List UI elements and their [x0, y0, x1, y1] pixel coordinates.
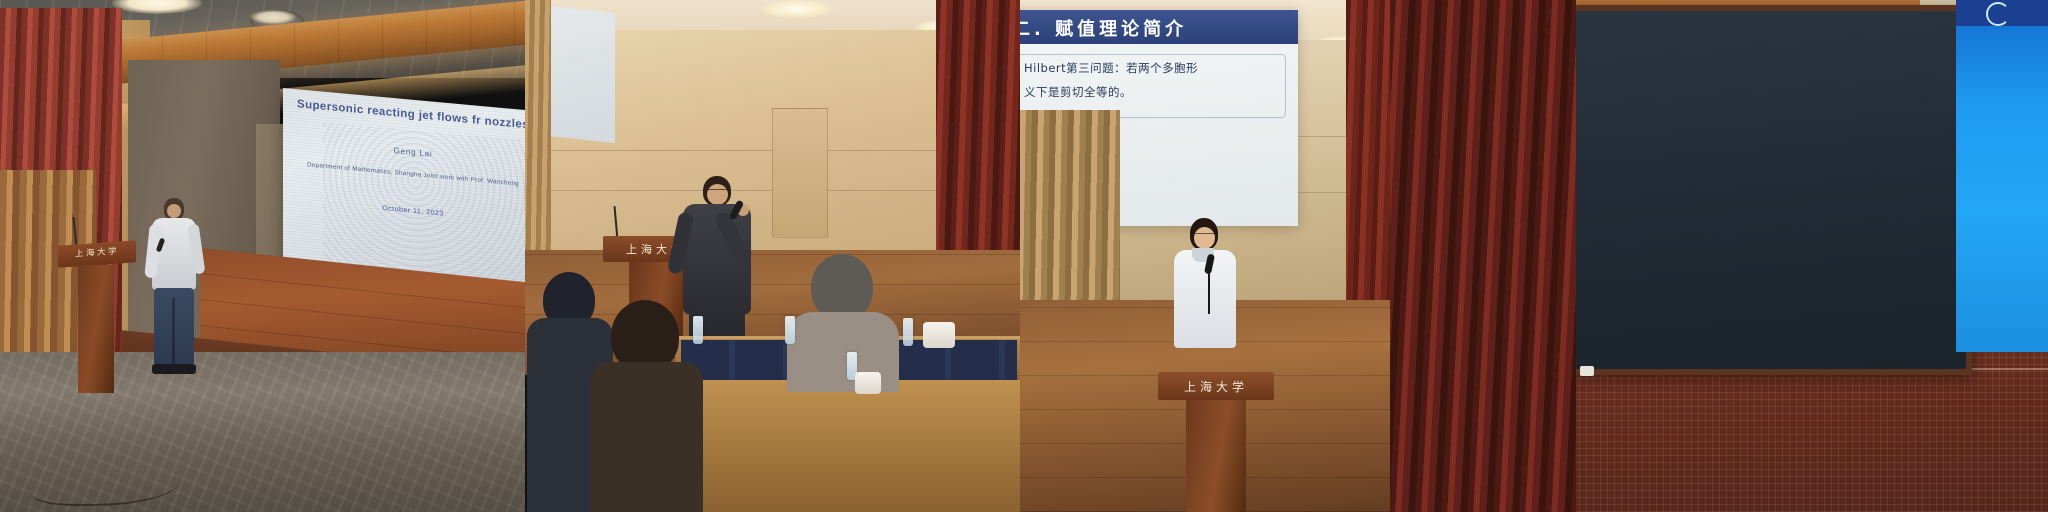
- speaker-person: [1168, 218, 1244, 388]
- tea-cup: [923, 322, 955, 348]
- ceiling-light-icon: [250, 10, 296, 24]
- blue-display-screen: [1956, 0, 2048, 352]
- photo-panel-3: 二. 赋值理论简介 Hilbert第三问题：若两个多胞形 义下是剪切全等的。 上…: [1020, 0, 1390, 512]
- audience-table-front: [649, 380, 1020, 512]
- tea-cup: [855, 372, 881, 394]
- lectern: 上海大学: [58, 243, 136, 393]
- slide-header-text: 二. 赋值理论简介: [1020, 15, 1187, 41]
- speaker-person: [146, 198, 202, 378]
- water-bottle: [693, 316, 703, 344]
- audience-body: [591, 362, 703, 512]
- red-curtain: [1390, 0, 1576, 512]
- lectern: 上海大学: [1158, 372, 1274, 512]
- audience-head: [811, 254, 873, 320]
- microphone-stand: [1208, 270, 1210, 314]
- slide-line-1: Hilbert第三问题：若两个多胞形: [1024, 60, 1198, 76]
- photo-panel-2: 上海大学: [525, 0, 1020, 512]
- photo-panel-4: [1390, 0, 2048, 512]
- lectern-sign: 上海大学: [1164, 378, 1268, 395]
- wall-switch[interactable]: [1580, 366, 1594, 376]
- dark-projection-screen: [1570, 5, 1972, 375]
- photo-panel-1: Supersonic reacting jet flows fr nozzles…: [0, 0, 525, 512]
- slide-line-2: 义下是剪切全等的。: [1024, 84, 1132, 100]
- water-bottle: [903, 318, 913, 346]
- photo-strip: Supersonic reacting jet flows fr nozzles…: [0, 0, 2048, 512]
- circular-logo-icon: [1986, 2, 2010, 26]
- water-bottle: [785, 316, 795, 344]
- ceiling-light-icon: [761, 0, 833, 18]
- wall-panel: [772, 108, 828, 238]
- audience-body: [787, 312, 899, 392]
